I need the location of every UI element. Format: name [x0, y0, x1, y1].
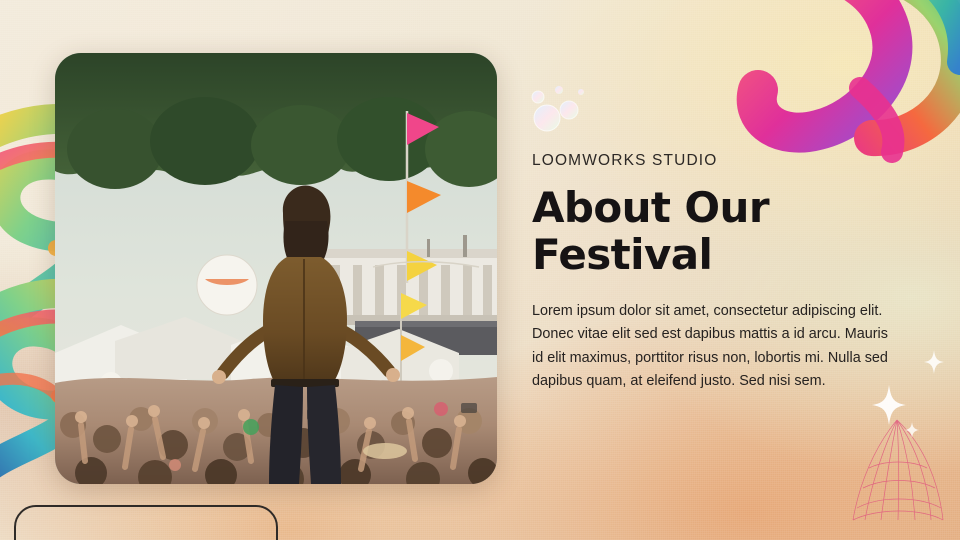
festival-photo: [55, 53, 497, 484]
body-paragraph: Lorem ipsum dolor sit amet, consectetur …: [532, 300, 900, 393]
festival-photo-artwork: [55, 53, 497, 484]
text-block: LOOMWORKS STUDIO About Our Festival Lore…: [532, 152, 906, 393]
eyebrow-label: LOOMWORKS STUDIO: [532, 152, 906, 170]
outlined-rounded-card: [14, 505, 278, 540]
page-title: About Our Festival: [532, 184, 862, 278]
slide-canvas: LOOMWORKS STUDIO About Our Festival Lore…: [0, 0, 960, 540]
